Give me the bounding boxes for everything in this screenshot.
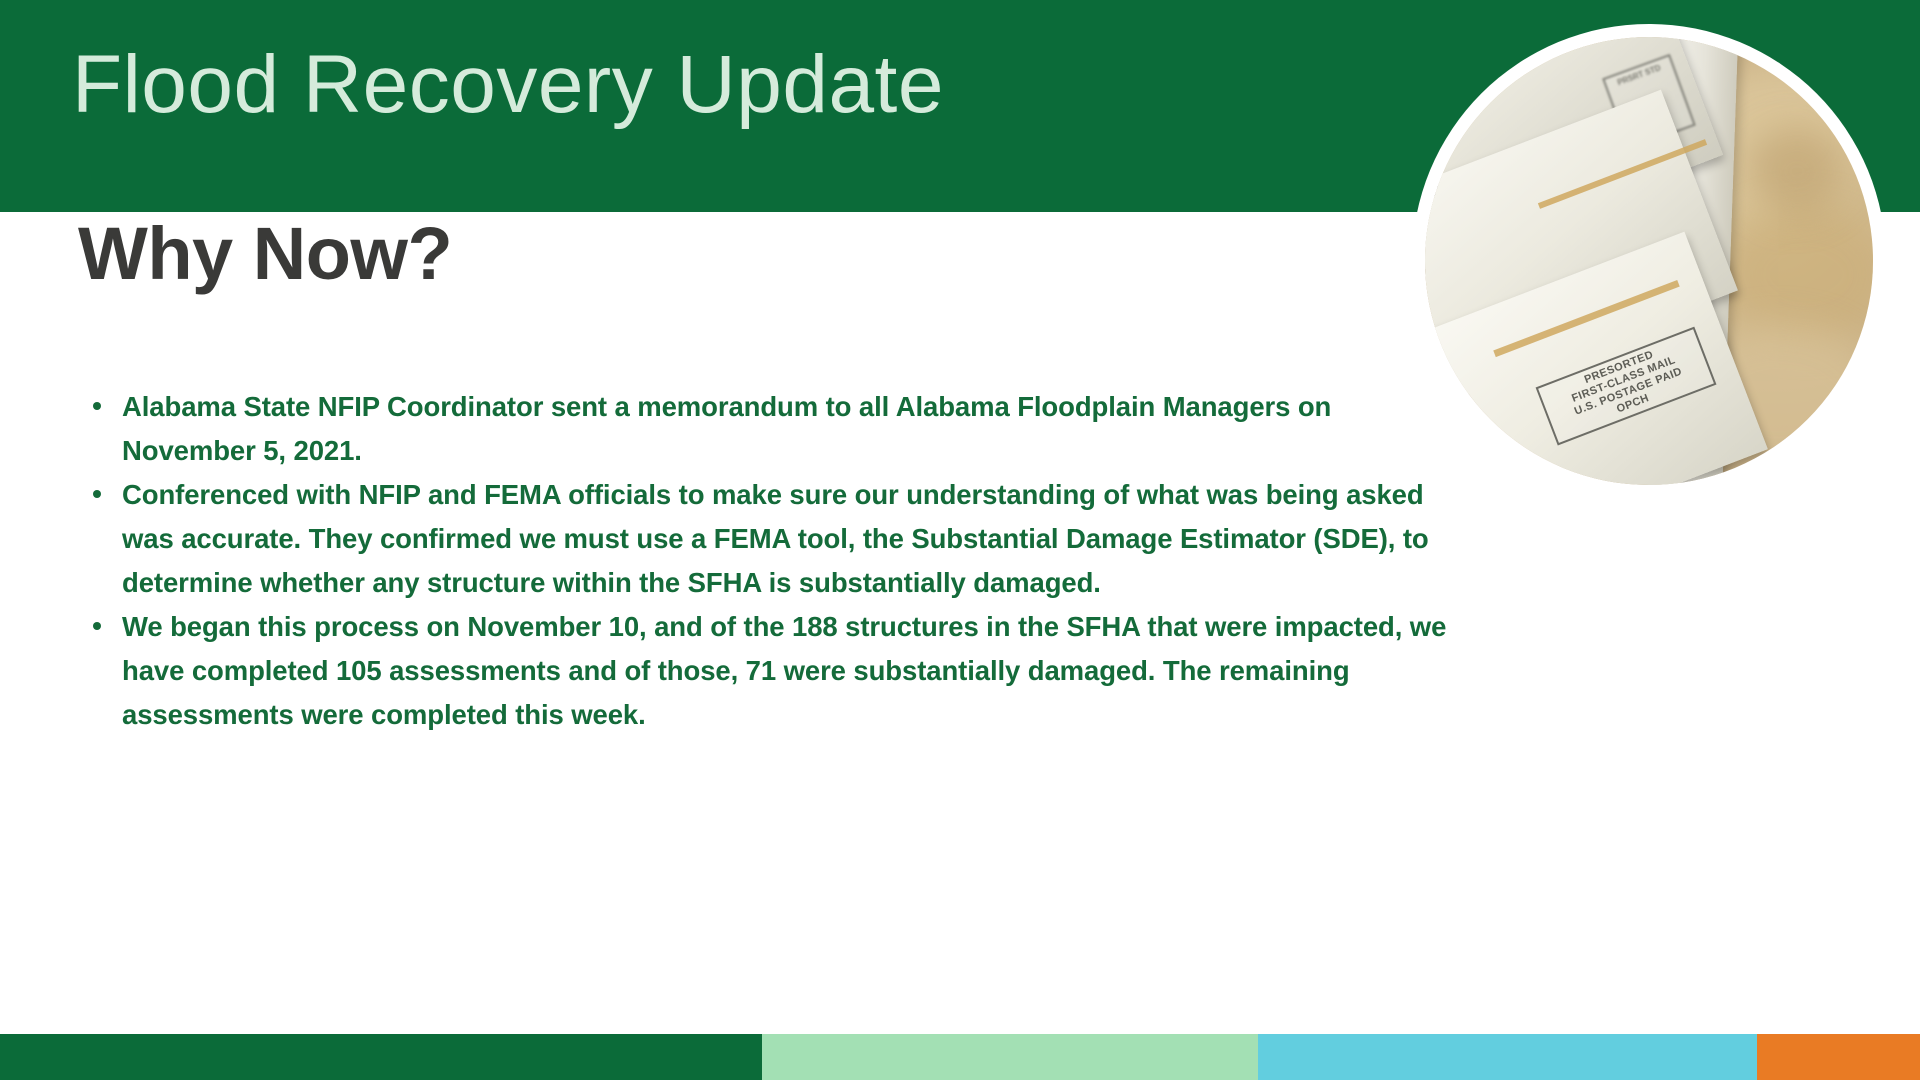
photo-ring-frame: PRSRT STD PRESORTED FIRST-CLASS MAIL POS… <box>1412 24 1886 498</box>
list-item: Conferenced with NFIP and FEMA officials… <box>84 473 1464 605</box>
footer-segment-orange <box>1757 1034 1920 1080</box>
bullet-dot-icon <box>93 622 101 630</box>
bullet-dot-icon <box>93 490 101 498</box>
bullet-dot-icon <box>93 402 101 410</box>
footer-segment-light-green <box>762 1034 1258 1080</box>
footer-color-bar <box>0 1034 1920 1080</box>
page-title: Flood Recovery Update <box>72 40 1322 130</box>
list-item-text: Alabama State NFIP Coordinator sent a me… <box>122 391 1331 466</box>
stacked-presorted-mail-envelopes-photo: PRSRT STD PRESORTED FIRST-CLASS MAIL POS… <box>1425 37 1873 485</box>
footer-segment-dark-green <box>0 1034 762 1080</box>
photo-background-blur-2 <box>1721 207 1873 341</box>
bullet-list: Alabama State NFIP Coordinator sent a me… <box>84 385 1464 737</box>
photo-background-blur-4 <box>1748 127 1847 217</box>
footer-segment-cyan <box>1258 1034 1757 1080</box>
list-item-text: We began this process on November 10, an… <box>122 611 1446 730</box>
list-item-text: Conferenced with NFIP and FEMA officials… <box>122 479 1429 598</box>
list-item: We began this process on November 10, an… <box>84 605 1464 737</box>
list-item: Alabama State NFIP Coordinator sent a me… <box>84 385 1464 473</box>
slide-canvas: Flood Recovery Update PRSRT STD PRESORTE… <box>0 0 1920 1080</box>
section-heading: Why Now? <box>78 213 978 296</box>
